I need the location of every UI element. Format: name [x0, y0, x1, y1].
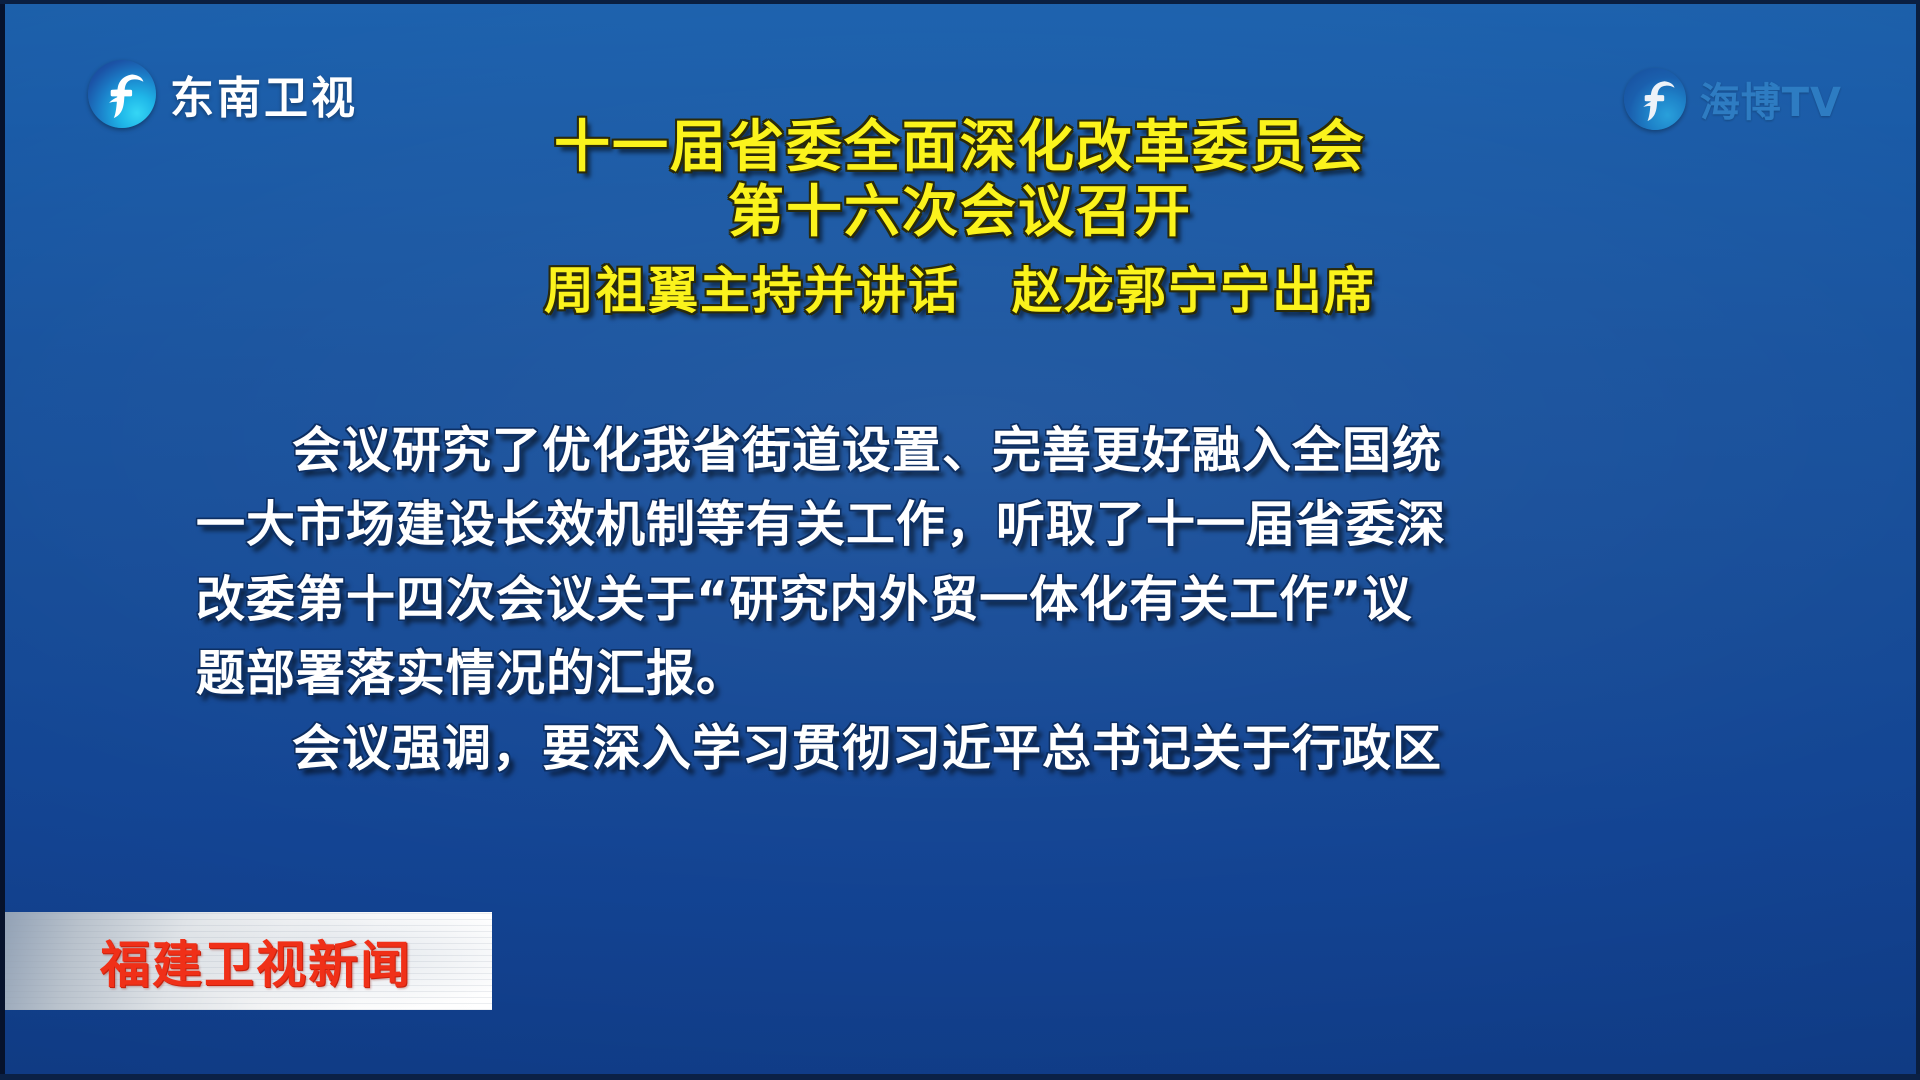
program-banner: 福建卫视新闻 [0, 912, 492, 1010]
headline-line-2: 第十六次会议召开 [0, 181, 1920, 246]
program-name-label: 福建卫视新闻 [100, 925, 412, 997]
news-body-text: 会议研究了优化我省街道设置、完善更好融入全国统 一大市场建设长效机制等有关工作，… [196, 414, 1724, 786]
body-line-3: 改委第十四次会议关于“研究内外贸一体化有关工作”议 [196, 563, 1724, 637]
body-line-1: 会议研究了优化我省街道设置、完善更好融入全国统 [196, 414, 1724, 488]
headline-line-1: 十一届省委全面深化改革委员会 [0, 116, 1920, 181]
frame-edge-right [1916, 0, 1920, 1080]
frame-edge-top [0, 0, 1920, 4]
frame-edge-bottom [0, 1074, 1920, 1080]
body-line-5: 会议强调，要深入学习贯彻习近平总书记关于行政区 [196, 712, 1724, 786]
body-line-2: 一大市场建设长效机制等有关工作，听取了十一届省委深 [196, 488, 1724, 562]
broadcast-screen: 东南卫视 海博TV 十一届省委全面深化改革委员会 第十六次会议召开 周祖翼主持并… [0, 0, 1920, 1080]
headline-line-3: 周祖翼主持并讲话 赵龙郭宁宁出席 [0, 262, 1920, 320]
news-headline: 十一届省委全面深化改革委员会 第十六次会议召开 周祖翼主持并讲话 赵龙郭宁宁出席 [0, 116, 1920, 320]
frame-edge-left [0, 0, 5, 1080]
body-line-4: 题部署落实情况的汇报。 [196, 637, 1724, 711]
